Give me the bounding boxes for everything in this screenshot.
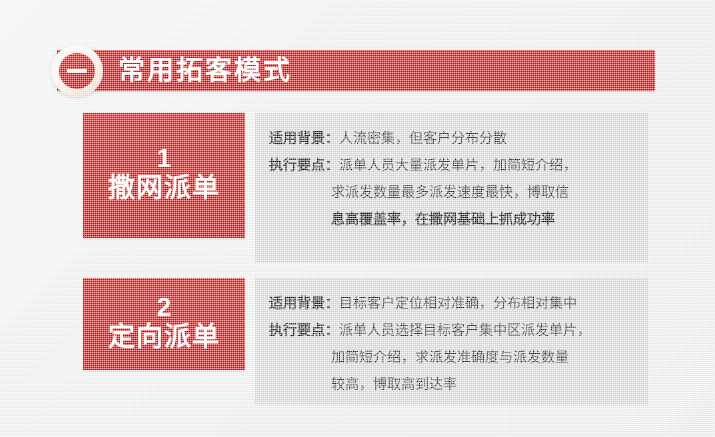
mode-tag-2: 2 定向派单 [83,278,245,370]
detail-row: 执行要点： 派单人员大量派发单片，加简短介绍， [269,152,633,179]
detail-row-text: 目标客户定位相对准确，分布相对集中 [339,290,577,317]
detail-row-text: 派单人员选择目标客户集中区派发单片， [339,317,591,344]
detail-row: 息高覆盖率，在撒网基础上抓成功率 [269,206,633,233]
detail-row: 较高，博取 高到达率 [269,371,633,398]
mode-tag-1: 1 撒网派单 [83,113,245,238]
mode-tag-label-1: 撒网派单 [108,173,220,205]
detail-row-label: 适用背景： [269,290,339,317]
mode-tag-number-1: 1 [157,144,171,173]
badge-inner-circle [59,53,95,89]
detail-row-text: 人流密集，但客户分布分散 [339,125,507,152]
detail-row-text: 派单人员大量派发单片，加简短介绍， [339,152,577,179]
section-header: 常用拓客模式 [57,50,655,91]
detail-row: 求派发数量最多派发速度最快，博取信 [269,179,633,206]
page-title: 常用拓客模式 [118,57,292,84]
detail-row-emphasis: 高到达率 [401,371,457,398]
detail-row-label: 适用背景： [269,125,339,152]
detail-row: 执行要点： 派单人员选择目标客户集中区派发单片， [269,317,633,344]
detail-row: 适用背景： 目标客户定位相对准确，分布相对集中 [269,290,633,317]
detail-row: 加简短介绍，求派发准确度与派发数量 [269,344,633,371]
detail-row-text: 求派发数量最多派发速度最快，博取信 [331,179,569,206]
detail-row-label: 执行要点： [269,152,339,179]
detail-row-label: 执行要点： [269,317,339,344]
detail-row-text: 息高覆盖率，在撒网基础上抓成功率 [331,206,555,233]
dash-glyph-icon [67,69,87,73]
slide-canvas: 常用拓客模式 1 撒网派单 适用背景： 人流密集，但客户分布分散 执行要点： 派… [0,0,715,437]
mode-tag-number-2: 2 [157,293,171,322]
detail-row-text: 较高，博取 [331,371,401,398]
mode-tag-label-2: 定向派单 [108,322,220,354]
detail-row: 适用背景： 人流密集，但客户分布分散 [269,125,633,152]
mode-detail-panel-2: 适用背景： 目标客户定位相对准确，分布相对集中 执行要点： 派单人员选择目标客户… [255,278,648,405]
circle-dash-badge-icon [51,45,103,97]
mode-detail-panel-1: 适用背景： 人流密集，但客户分布分散 执行要点： 派单人员大量派发单片，加简短介… [255,113,648,263]
detail-row-text: 加简短介绍，求派发准确度与派发数量 [331,344,569,371]
